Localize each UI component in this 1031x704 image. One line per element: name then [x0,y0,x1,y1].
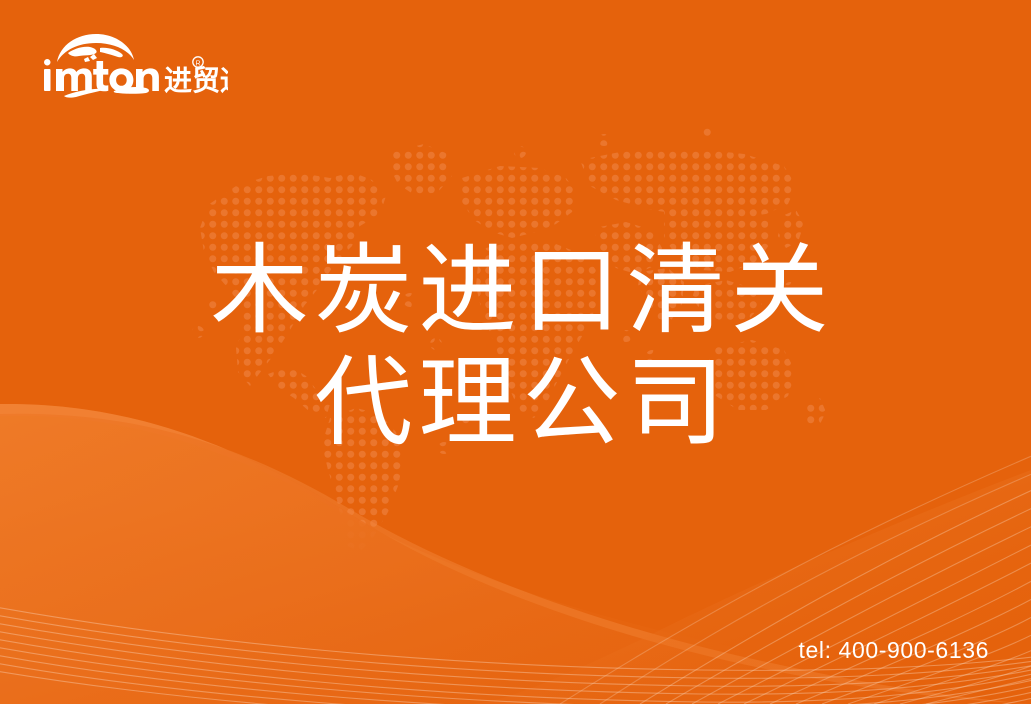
contact-phone[interactable]: tel: 400-900-6136 [798,637,989,663]
logo-chinese-text: 进贸通 [164,64,228,97]
registered-trademark-icon: R [193,57,203,68]
line-fan-decoration [0,0,1031,704]
globe-map-icon [57,34,134,62]
logo-wordmark [44,59,159,92]
company-logo[interactable]: 进贸通 R [38,28,228,100]
promo-banner: 进贸通 R 木炭进口清关 代理公司 tel: 400-900-6136 [0,0,1031,704]
logo-chinese-label: 进贸通 [164,64,228,97]
svg-text:R: R [195,61,200,68]
